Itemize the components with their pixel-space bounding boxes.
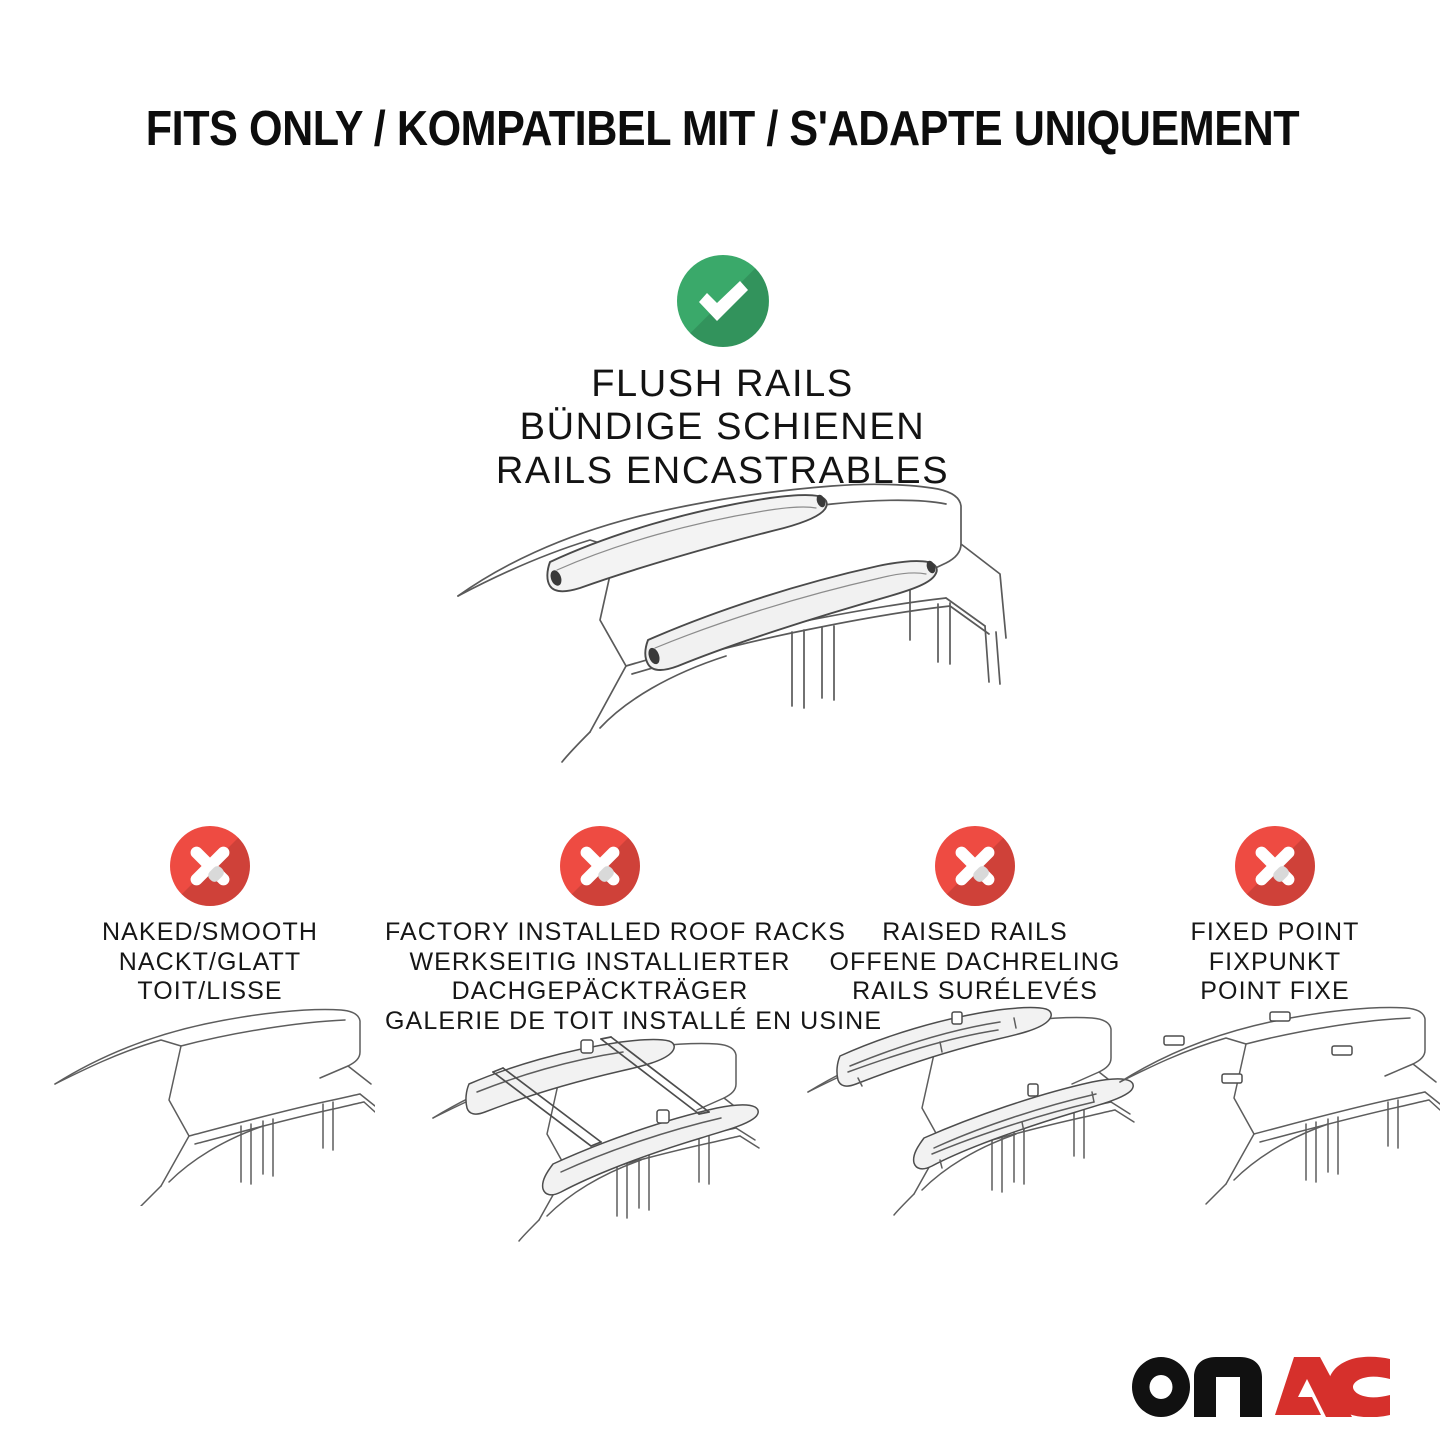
x-circle-icon: [935, 826, 1015, 906]
label-en: RAISED RAILS: [815, 918, 1135, 948]
label-de: NACKT/GLATT: [35, 948, 385, 978]
not-fits-column-naked-smooth: NAKED/SMOOTH NACKT/GLATT TOIT/LISSE: [35, 826, 385, 1007]
x-circle-icon: [560, 826, 640, 906]
x-circle-icon: [1235, 826, 1315, 906]
label-en: FACTORY INSTALLED ROOF RACKS: [385, 918, 815, 948]
header: FITS ONLY / KOMPATIBEL MIT / S'ADAPTE UN…: [0, 105, 1445, 154]
check-circle-icon: [677, 255, 769, 347]
label-en: FIXED POINT: [1135, 918, 1415, 948]
fits-section: FLUSH RAILS BÜNDIGE SCHIENEN RAILS ENCAS…: [0, 255, 1445, 493]
car-roof-factory-rack-drawing: [425, 1026, 775, 1251]
car-roof-naked-drawing: [45, 996, 375, 1206]
compatibility-infographic: FITS ONLY / KOMPATIBEL MIT / S'ADAPTE UN…: [0, 0, 1445, 1445]
label-de: FIXPUNKT: [1135, 948, 1415, 978]
label-de: OFFENE DACHRELING: [815, 948, 1135, 978]
not-fits-column-factory-roof-racks: FACTORY INSTALLED ROOF RACKS WERKSEITIG …: [385, 826, 815, 1036]
fits-label-de: BÜNDIGE SCHIENEN: [0, 406, 1445, 449]
page-title: FITS ONLY / KOMPATIBEL MIT / S'ADAPTE UN…: [87, 105, 1359, 154]
column-labels: RAISED RAILS OFFENE DACHRELING RAILS SUR…: [815, 918, 1135, 1007]
car-roof-flush-rails-drawing: [440, 470, 1040, 770]
not-fits-column-fixed-point: FIXED POINT FIXPUNKT POINT FIXE: [1135, 826, 1415, 1007]
column-labels: FACTORY INSTALLED ROOF RACKS WERKSEITIG …: [385, 918, 815, 1036]
label-de-2: DACHGEPÄCKTRÄGER: [385, 977, 815, 1007]
label-de-1: WERKSEITIG INSTALLIERTER: [385, 948, 815, 978]
car-roof-fixed-point-drawing: [1110, 996, 1440, 1211]
label-en: NAKED/SMOOTH: [35, 918, 385, 948]
not-compatible-section: NAKED/SMOOTH NACKT/GLATT TOIT/LISSE: [0, 826, 1445, 1246]
column-labels: NAKED/SMOOTH NACKT/GLATT TOIT/LISSE: [35, 918, 385, 1007]
column-labels: FIXED POINT FIXPUNKT POINT FIXE: [1135, 918, 1415, 1007]
x-circle-icon: [170, 826, 250, 906]
car-roof-raised-rails-drawing: [800, 996, 1150, 1221]
fits-label-en: FLUSH RAILS: [0, 363, 1445, 406]
not-fits-column-raised-rails: RAISED RAILS OFFENE DACHRELING RAILS SUR…: [815, 826, 1135, 1007]
omac-logo: OMAC: [1130, 1355, 1390, 1417]
